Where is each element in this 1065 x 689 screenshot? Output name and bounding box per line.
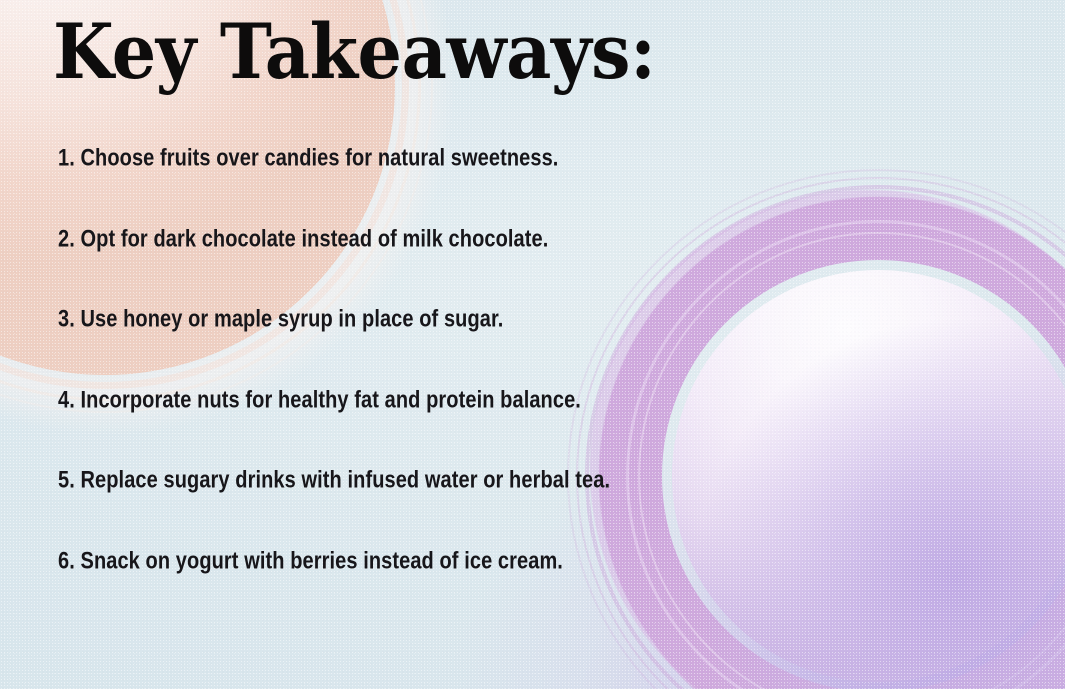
list-item: 3. Use honey or maple syrup in place of …	[58, 308, 957, 332]
poster-content: Key Takeaways: 1. Choose fruits over can…	[0, 0, 1065, 689]
key-takeaways-poster: Key Takeaways: 1. Choose fruits over can…	[0, 0, 1065, 689]
page-title: Key Takeaways:	[53, 14, 655, 90]
list-item: 2. Opt for dark chocolate instead of mil…	[58, 227, 957, 251]
takeaways-list: 1. Choose fruits over candies for natura…	[58, 148, 1025, 572]
list-item: 4. Incorporate nuts for healthy fat and …	[58, 388, 957, 412]
list-item: 5. Replace sugary drinks with infused wa…	[58, 469, 957, 493]
list-item: 6. Snack on yogurt with berries instead …	[58, 549, 957, 573]
list-item: 1. Choose fruits over candies for natura…	[58, 147, 957, 171]
